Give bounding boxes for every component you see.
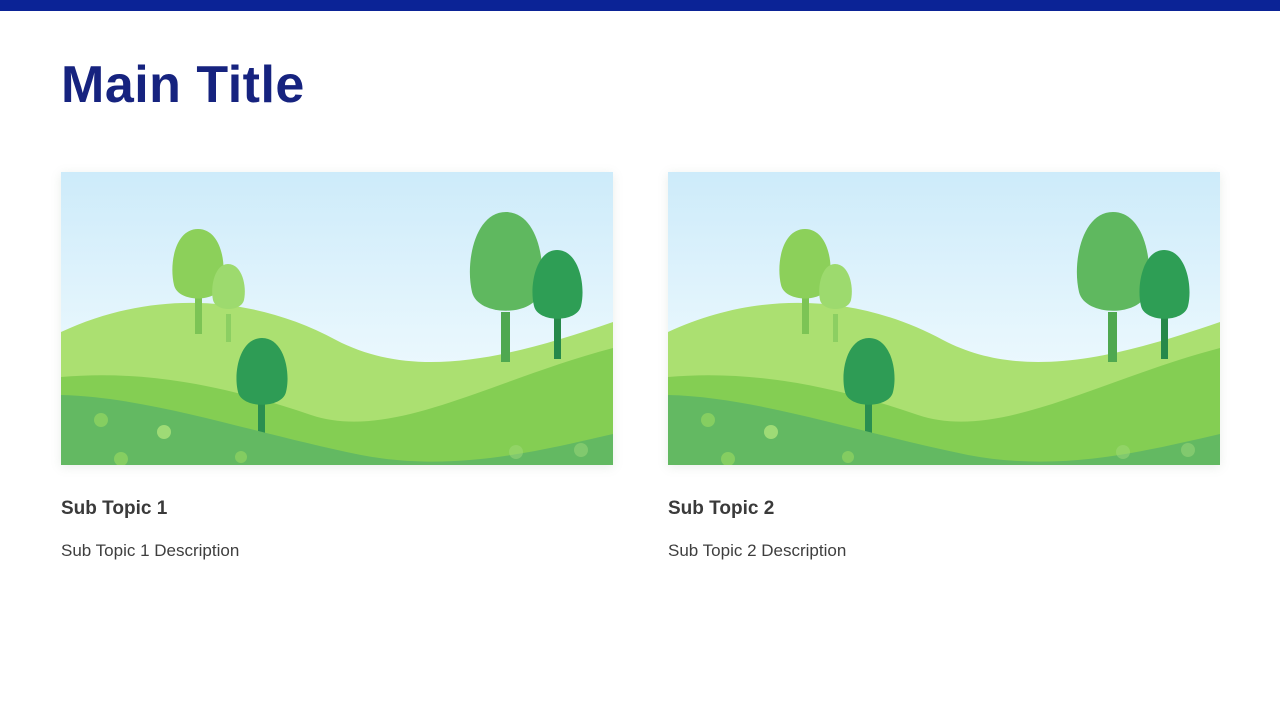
card-grid: Sub Topic 1 Sub Topic 1 Description (61, 172, 1220, 562)
top-accent-bar (0, 0, 1280, 11)
card-description: Sub Topic 1 Description (61, 540, 613, 562)
content-card[interactable]: Sub Topic 1 Sub Topic 1 Description (61, 172, 613, 562)
card-description: Sub Topic 2 Description (668, 540, 1220, 562)
landscape-illustration-2 (668, 172, 1220, 465)
landscape-svg (668, 172, 1220, 465)
landscape-illustration-1 (61, 172, 613, 465)
card-title: Sub Topic 2 (668, 498, 1220, 521)
landscape-svg (61, 172, 613, 465)
card-title: Sub Topic 1 (61, 498, 613, 521)
slide-canvas: Main Title (0, 11, 1280, 720)
page-title: Main Title (61, 57, 305, 114)
content-card[interactable]: Sub Topic 2 Sub Topic 2 Description (668, 172, 1220, 562)
